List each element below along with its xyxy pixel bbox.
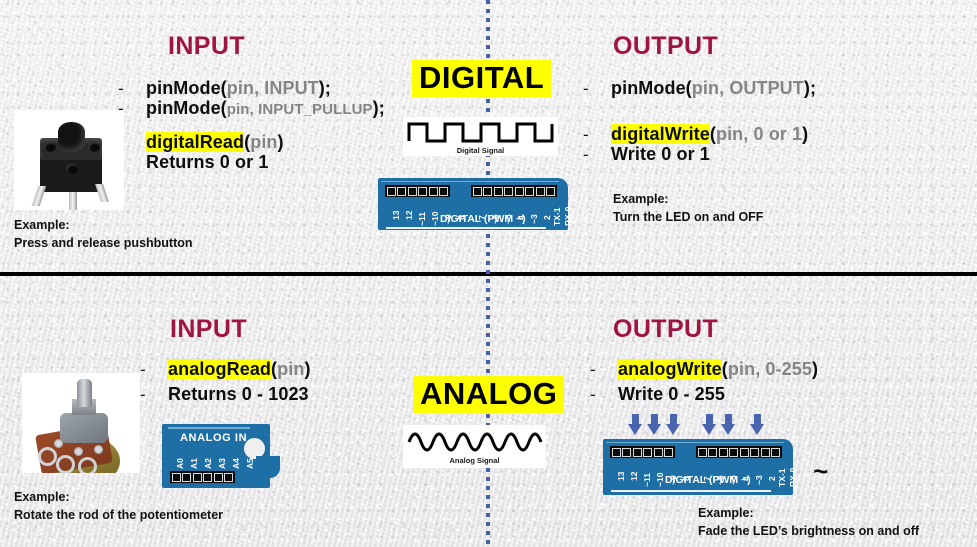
bullet-code: Write 0 or 1 xyxy=(611,144,710,164)
digital-signal-graphic: Digital Signal xyxy=(403,117,558,156)
pin-hole[interactable] xyxy=(698,448,707,457)
digital-output-heading: OUTPUT xyxy=(613,32,718,61)
example-text: Fade the LED’s brightness on and off xyxy=(698,522,919,540)
pin-hole[interactable] xyxy=(771,448,780,457)
analog-input-bullets: - analogRead(pin) - Returns 0 - 1023 xyxy=(140,359,311,404)
pin-label-tx1: TX-1 xyxy=(552,208,562,226)
slide-canvas: INPUT - pinMode(pin, INPUT); - pinMode(p… xyxy=(0,0,977,547)
bullet-dash: - xyxy=(583,79,611,98)
pin-hole[interactable] xyxy=(418,187,427,196)
board-bottom-line xyxy=(611,490,771,492)
digital-header-left-strip xyxy=(385,185,450,197)
board-top-highlight xyxy=(381,181,559,183)
bullet-row: - pinMode(pin, INPUT_PULLUP); xyxy=(118,98,385,119)
bullet-row: - Returns 0 or 1 xyxy=(118,152,385,172)
pin-label-a2: A2 xyxy=(203,458,213,469)
pin-hole[interactable] xyxy=(546,187,555,196)
digital-header-right-strip xyxy=(471,185,557,197)
bullet-row: - Returns 0 - 1023 xyxy=(140,384,311,404)
bullet-code: pinMode(pin, INPUT_PULLUP); xyxy=(146,98,385,119)
code-fragment: ); xyxy=(373,98,385,118)
digital-header-label: DIGITAL (PWM ~) xyxy=(665,474,751,486)
pin-label-10: ~10 xyxy=(430,212,440,226)
pushbutton-corner-dot-icon xyxy=(44,142,56,152)
square-wave-icon xyxy=(403,117,558,147)
pin-hole[interactable] xyxy=(654,448,663,457)
example-label: Example: xyxy=(14,216,193,234)
bullet-code: pinMode(pin, INPUT); xyxy=(146,78,331,98)
digital-header-right-strip xyxy=(696,446,782,458)
bullet-dash: - xyxy=(583,145,611,164)
analog-input-heading: INPUT xyxy=(170,315,247,344)
analog-section: INPUT - analogRead(pin) - Returns 0 - 10… xyxy=(0,276,977,547)
pin-hole[interactable] xyxy=(439,187,448,196)
bullet-code: Returns 0 or 1 xyxy=(146,152,268,172)
digital-header-label: DIGITAL (PWM ~) xyxy=(440,213,526,225)
pin-hole[interactable] xyxy=(633,448,642,457)
pin-label-rx0: RX-0 xyxy=(788,468,798,487)
pin-hole[interactable] xyxy=(494,187,503,196)
pin-hole[interactable] xyxy=(750,448,759,457)
digital-section: INPUT - pinMode(pin, INPUT); - pinMode(p… xyxy=(0,0,977,272)
example-text: Press and release pushbutton xyxy=(14,234,193,252)
bullet-dash: - xyxy=(590,360,618,379)
analog-signal-graphic: Analog Signal xyxy=(403,425,546,468)
pushbutton-leg-icon xyxy=(69,192,77,210)
analog-output-bullets: - analogWrite(pin, 0-255) - Write 0 - 25… xyxy=(590,359,818,404)
pushbutton-corner-dot-icon xyxy=(66,164,78,174)
code-fragment: ); xyxy=(319,78,331,98)
digital-header-board-bottom: 13 12 ~11 ~10 ~9 8 7 ~6 ~5 4 ~3 2 TX-1 R… xyxy=(603,439,793,495)
arg-fragment: pin xyxy=(277,359,304,379)
pin-hole[interactable] xyxy=(408,187,417,196)
code-fragment: pinMode( xyxy=(611,78,692,98)
pin-hole[interactable] xyxy=(740,448,749,457)
highlighted-function-name: analogWrite xyxy=(618,359,722,379)
bullet-row: - analogWrite(pin, 0-255) xyxy=(590,359,818,379)
pin-label-a5: A5 xyxy=(245,458,255,469)
pin-hole[interactable] xyxy=(193,473,202,482)
board-top-highlight xyxy=(606,442,784,444)
highlighted-function-name: digitalRead xyxy=(146,132,244,152)
digital-input-example: Example: Press and release pushbutton xyxy=(14,216,193,252)
example-label: Example: xyxy=(14,488,223,506)
pin-label-tx1: TX-1 xyxy=(777,469,787,487)
potentiometer-shaft-icon xyxy=(77,379,92,407)
pin-label-a3: A3 xyxy=(217,458,227,469)
pin-hole[interactable] xyxy=(612,448,621,457)
pin-label-13: 13 xyxy=(391,211,401,220)
arg-fragment: pin, OUTPUT xyxy=(692,78,804,98)
pin-hole[interactable] xyxy=(643,448,652,457)
bullet-gap xyxy=(583,98,816,124)
bullet-row: - Write 0 or 1 xyxy=(583,144,816,164)
pin-hole[interactable] xyxy=(515,187,524,196)
board-bottom-line xyxy=(386,227,546,229)
bullet-row: - Write 0 - 255 xyxy=(590,384,818,404)
pin-hole[interactable] xyxy=(203,473,212,482)
bullet-code: analogWrite(pin, 0-255) xyxy=(618,359,818,379)
potentiometer-rivet-icon xyxy=(94,445,103,454)
bullet-code: digitalWrite(pin, 0 or 1) xyxy=(611,124,808,144)
analog-output-heading: OUTPUT xyxy=(613,315,718,344)
digital-tag: DIGITAL xyxy=(412,60,551,97)
pin-hole[interactable] xyxy=(387,187,396,196)
bullet-row: - pinMode(pin, OUTPUT); xyxy=(583,78,816,98)
pin-label-a1: A1 xyxy=(189,458,199,469)
code-fragment: ) xyxy=(802,124,808,144)
pin-label-a0: A0 xyxy=(175,458,185,469)
pin-label-2: 2 xyxy=(767,476,777,481)
pin-label-3: ~3 xyxy=(754,475,764,485)
pin-label-2: 2 xyxy=(542,215,552,220)
bullet-dash: - xyxy=(140,385,168,404)
bullet-code: pinMode(pin, OUTPUT); xyxy=(611,78,816,98)
analog-in-label: ANALOG IN xyxy=(180,432,247,444)
pin-hole[interactable] xyxy=(504,187,513,196)
digital-header-left-strip xyxy=(610,446,675,458)
pin-hole[interactable] xyxy=(719,448,728,457)
code-fragment: ) xyxy=(812,359,818,379)
pin-hole[interactable] xyxy=(664,448,673,457)
pin-hole[interactable] xyxy=(708,448,717,457)
example-text: Rotate the rod of the potentiometer xyxy=(14,506,223,524)
pin-label-13: 13 xyxy=(616,472,626,481)
pin-hole[interactable] xyxy=(429,187,438,196)
pushbutton-cap-icon xyxy=(58,122,85,152)
pin-label-10: ~10 xyxy=(655,473,665,487)
highlighted-function-name: analogRead xyxy=(168,359,271,379)
pin-label-12: 12 xyxy=(404,211,414,220)
pin-hole[interactable] xyxy=(525,187,534,196)
potentiometer-terminal-icon xyxy=(56,455,75,473)
digital-input-heading: INPUT xyxy=(168,32,245,61)
pushbutton-corner-dot-icon xyxy=(88,142,100,152)
highlighted-function-name: digitalWrite xyxy=(611,124,710,144)
potentiometer-bracket-icon xyxy=(60,413,108,443)
example-label: Example: xyxy=(698,504,919,522)
pwm-tilde-symbol: ~ xyxy=(813,458,828,484)
analog-signal-caption: Analog Signal xyxy=(403,456,546,465)
potentiometer-photo xyxy=(22,373,140,473)
pin-label-11: ~11 xyxy=(417,212,427,226)
code-fragment: ); xyxy=(804,78,816,98)
analog-tag: ANALOG xyxy=(413,376,564,413)
code-fragment: pinMode( xyxy=(146,98,227,118)
bullet-row: - pinMode(pin, INPUT); xyxy=(118,78,385,98)
bullet-code: Write 0 - 255 xyxy=(618,384,725,404)
bullet-code: digitalRead(pin) xyxy=(146,132,284,152)
board-top-highlight xyxy=(168,427,250,429)
arg-fragment: pin, 0 or 1 xyxy=(716,124,802,144)
example-text: Turn the LED on and OFF xyxy=(613,208,763,226)
bullet-row: - digitalWrite(pin, 0 or 1) xyxy=(583,124,816,144)
pin-hole[interactable] xyxy=(473,187,482,196)
pin-label-3: ~3 xyxy=(529,214,539,224)
analog-header-strip xyxy=(170,471,235,483)
example-label: Example: xyxy=(613,190,763,208)
bullet-row: - analogRead(pin) xyxy=(140,359,311,379)
pin-hole[interactable] xyxy=(214,473,223,482)
pushbutton-leg-icon xyxy=(32,186,46,206)
pin-hole[interactable] xyxy=(483,187,492,196)
analog-in-board: ANALOG IN A0 A1 A2 A3 A4 A5 xyxy=(162,424,270,488)
arg-fragment: pin xyxy=(250,132,277,152)
sine-wave-icon xyxy=(403,425,546,458)
analog-input-example: Example: Rotate the rod of the potentiom… xyxy=(14,488,223,524)
digital-output-example: Example: Turn the LED on and OFF xyxy=(613,190,763,226)
bullet-row: - digitalRead(pin) xyxy=(118,132,385,152)
digital-output-bullets: - pinMode(pin, OUTPUT); - digitalWrite(p… xyxy=(583,78,816,164)
digital-header-board-top: 13 12 ~11 ~10 ~9 8 7 ~6 ~5 4 ~3 2 TX-1 R… xyxy=(378,178,568,230)
arg-fragment: pin, INPUT_PULLUP xyxy=(227,101,373,118)
pin-hole[interactable] xyxy=(536,187,545,196)
pin-label-12: 12 xyxy=(629,472,639,481)
pin-label-11: ~11 xyxy=(642,473,652,487)
pin-hole[interactable] xyxy=(224,473,233,482)
potentiometer-terminal-icon xyxy=(78,457,97,473)
code-fragment: pinMode( xyxy=(146,78,227,98)
bullet-dash: - xyxy=(140,360,168,379)
arg-fragment: pin, INPUT xyxy=(227,78,319,98)
pin-hole[interactable] xyxy=(172,473,181,482)
pushbutton-leg-icon xyxy=(95,184,109,202)
potentiometer-terminal-icon xyxy=(38,447,57,466)
bullet-gap xyxy=(118,119,385,132)
bullet-dash: - xyxy=(583,125,611,144)
board-tab xyxy=(256,456,280,478)
pin-hole[interactable] xyxy=(397,187,406,196)
pin-hole[interactable] xyxy=(729,448,738,457)
potentiometer-rivet-icon xyxy=(54,439,63,448)
pushbutton-photo xyxy=(14,110,124,210)
code-fragment: ) xyxy=(278,132,284,152)
digital-signal-caption: Digital Signal xyxy=(403,146,558,155)
pin-hole[interactable] xyxy=(182,473,191,482)
bullet-dash: - xyxy=(590,385,618,404)
potentiometer-rivet-icon xyxy=(74,447,83,456)
bullet-code: analogRead(pin) xyxy=(168,359,311,379)
pin-hole[interactable] xyxy=(761,448,770,457)
code-fragment: ) xyxy=(304,359,310,379)
bullet-code: Returns 0 - 1023 xyxy=(168,384,309,404)
digital-input-bullets: - pinMode(pin, INPUT); - pinMode(pin, IN… xyxy=(118,78,385,172)
arg-fragment: pin, 0-255 xyxy=(728,359,812,379)
pin-label-a4: A4 xyxy=(231,458,241,469)
bullet-dash: - xyxy=(118,79,146,98)
pin-hole[interactable] xyxy=(622,448,631,457)
pin-label-rx0: RX-0 xyxy=(563,207,573,226)
analog-output-example: Example: Fade the LED’s brightness on an… xyxy=(698,504,919,540)
